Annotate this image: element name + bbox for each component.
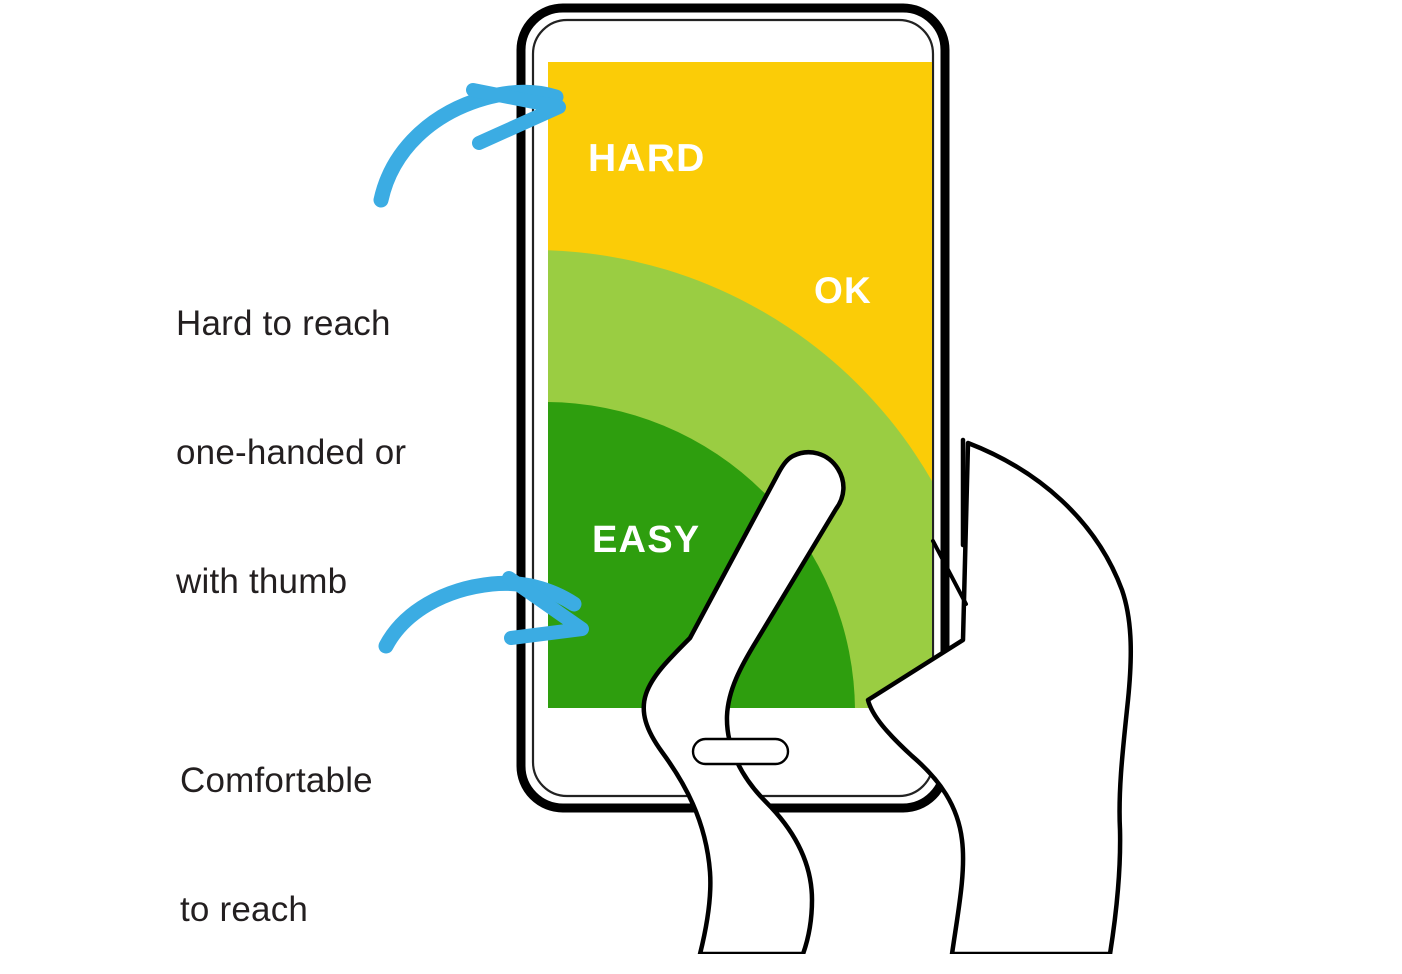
zone-label-ok: OK — [814, 270, 872, 312]
zone-label-easy: EASY — [592, 519, 700, 562]
caption-line-2: one-handed or — [176, 431, 406, 474]
zone-label-hard: HARD — [588, 137, 705, 181]
caption-line-1: Hard to reach — [176, 302, 406, 345]
caption-line-1: Comfortable — [180, 759, 373, 802]
comfortable-to-reach-arrow-icon — [386, 578, 582, 646]
caption-line-2: to reach — [180, 888, 373, 931]
caption-line-3: with thumb — [176, 560, 406, 603]
hard-to-reach-caption: Hard to reach one-handed or with thumb — [176, 216, 406, 646]
home-button-icon[interactable] — [693, 739, 788, 764]
comfortable-to-reach-caption: Comfortable to reach — [180, 673, 373, 974]
